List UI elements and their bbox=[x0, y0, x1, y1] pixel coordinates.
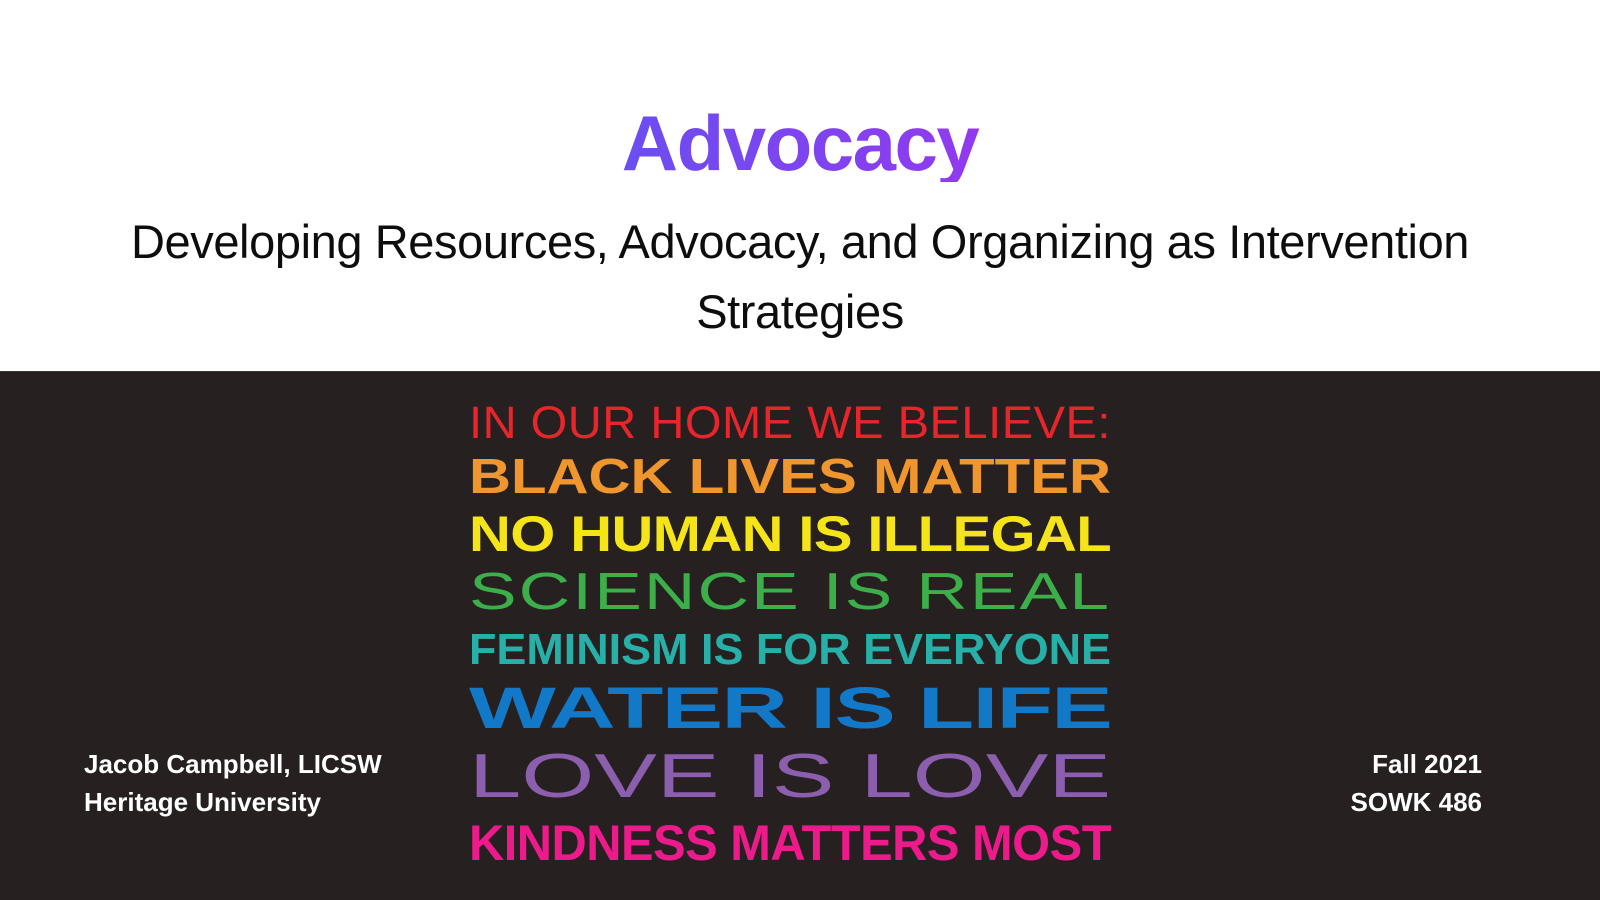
poster-line-2: BLACK LIVES MATTER bbox=[469, 453, 1111, 502]
presenter-credits: Jacob Campbell, LICSW Heritage Universit… bbox=[84, 745, 382, 822]
poster-line-3: NO HUMAN IS ILLEGAL bbox=[469, 509, 1111, 559]
course-code: SOWK 486 bbox=[1351, 783, 1483, 821]
poster-line-4: SCIENCE IS REAL bbox=[469, 566, 1111, 618]
poster-line-7: LOVE IS LOVE bbox=[469, 746, 1111, 808]
presenter-name: Jacob Campbell, LICSW bbox=[84, 745, 382, 783]
poster-line-6: WATER IS LIFE bbox=[469, 680, 1111, 738]
course-credits: Fall 2021 SOWK 486 bbox=[1351, 745, 1483, 822]
slide-subtitle: Developing Resources, Advocacy, and Orga… bbox=[100, 207, 1500, 346]
poster-line-5: FEMINISM IS FOR EVERYONE bbox=[469, 628, 1111, 672]
poster-line-8: KINDNESS MATTERS MOST bbox=[469, 818, 1111, 868]
slide-header-band: Advocacy Developing Resources, Advocacy,… bbox=[0, 0, 1600, 371]
course-term: Fall 2021 bbox=[1351, 745, 1483, 783]
poster-line-1: IN OUR HOME WE BELIEVE: bbox=[469, 400, 1111, 445]
presenter-institution: Heritage University bbox=[84, 783, 382, 821]
presentation-slide: Advocacy Developing Resources, Advocacy,… bbox=[0, 0, 1600, 900]
page-title: Advocacy bbox=[0, 104, 1600, 182]
band-divider bbox=[0, 371, 1600, 372]
in-our-home-we-believe-poster: IN OUR HOME WE BELIEVE: BLACK LIVES MATT… bbox=[455, 378, 1125, 900]
